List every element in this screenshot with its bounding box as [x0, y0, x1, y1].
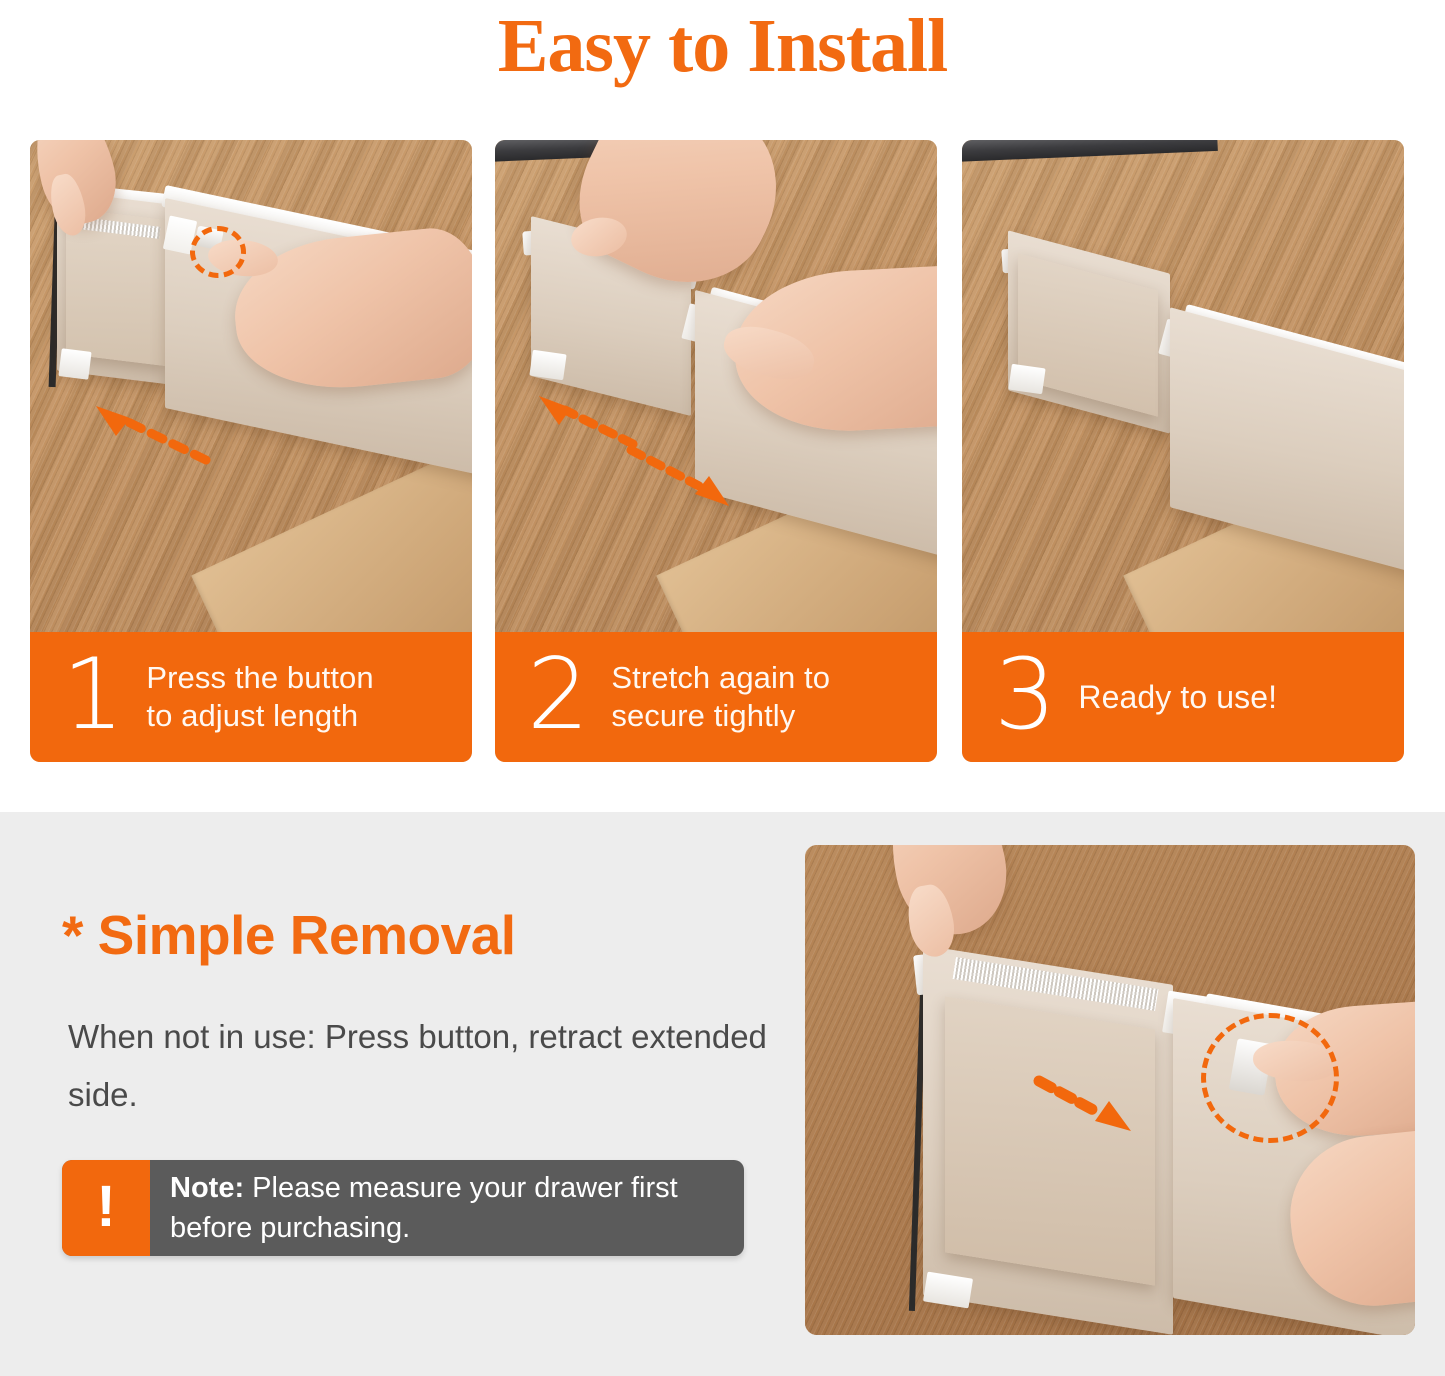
step-1-photo	[30, 140, 472, 640]
step-3-caption: 3 Ready to use!	[962, 632, 1404, 762]
step-3-number: 3	[994, 647, 1056, 743]
page-title: Easy to Install	[0, 2, 1445, 90]
step-2-number: 2	[527, 647, 589, 743]
step-card-1: 1 Press the button to adjust length	[30, 140, 472, 762]
divider-assembly	[962, 140, 1404, 640]
removal-title: * Simple Removal	[62, 904, 516, 966]
step-1-caption-text: Press the button to adjust length	[146, 659, 373, 735]
simple-removal-section: * Simple Removal When not in use: Press …	[0, 812, 1445, 1376]
step-2-line-1: Stretch again to	[611, 659, 830, 697]
removal-photo	[805, 845, 1415, 1335]
removal-body-text: When not in use: Press button, retract e…	[68, 1008, 768, 1124]
solid-arrow-right	[1033, 1073, 1143, 1137]
note-badge: !	[62, 1160, 150, 1256]
step-2-line-2: secure tightly	[611, 697, 830, 735]
dashed-arrow-left	[86, 402, 226, 472]
note-box: ! Note: Please measure your drawer first…	[62, 1160, 744, 1256]
step-card-3: 3 Ready to use!	[962, 140, 1404, 762]
step-2-photo	[495, 140, 937, 640]
divider-foot-left	[1008, 364, 1045, 394]
divider-panel-left-inner	[945, 996, 1155, 1285]
button-highlight-circle	[1201, 1013, 1339, 1143]
step-2-caption-text: Stretch again to secure tightly	[611, 659, 830, 735]
divider-foot-left	[923, 1272, 973, 1309]
note-label: Note:	[170, 1172, 244, 1204]
step-card-2: 2 Stretch again to secure tightly	[495, 140, 937, 762]
button-highlight-circle	[190, 226, 246, 278]
exclamation-icon: !	[96, 1178, 115, 1236]
step-2-caption: 2 Stretch again to secure tightly	[495, 632, 937, 762]
step-1-line-2: to adjust length	[146, 697, 373, 735]
install-steps-section: Easy to Install	[0, 0, 1445, 812]
step-3-line-1: Ready to use!	[1078, 678, 1277, 716]
note-text: Note: Please measure your drawer first b…	[150, 1160, 744, 1256]
divider-foot-left	[58, 348, 91, 379]
step-1-caption: 1 Press the button to adjust length	[30, 632, 472, 762]
divider-foot-left	[529, 350, 566, 380]
step-1-line-1: Press the button	[146, 659, 373, 697]
step-1-number: 1	[62, 647, 124, 743]
divider-panel-right	[1170, 307, 1404, 577]
dashed-arrow-right	[621, 440, 741, 512]
step-3-caption-text: Ready to use!	[1078, 678, 1277, 716]
step-3-photo	[962, 140, 1404, 640]
note-body: Please measure your drawer first before …	[170, 1172, 678, 1244]
